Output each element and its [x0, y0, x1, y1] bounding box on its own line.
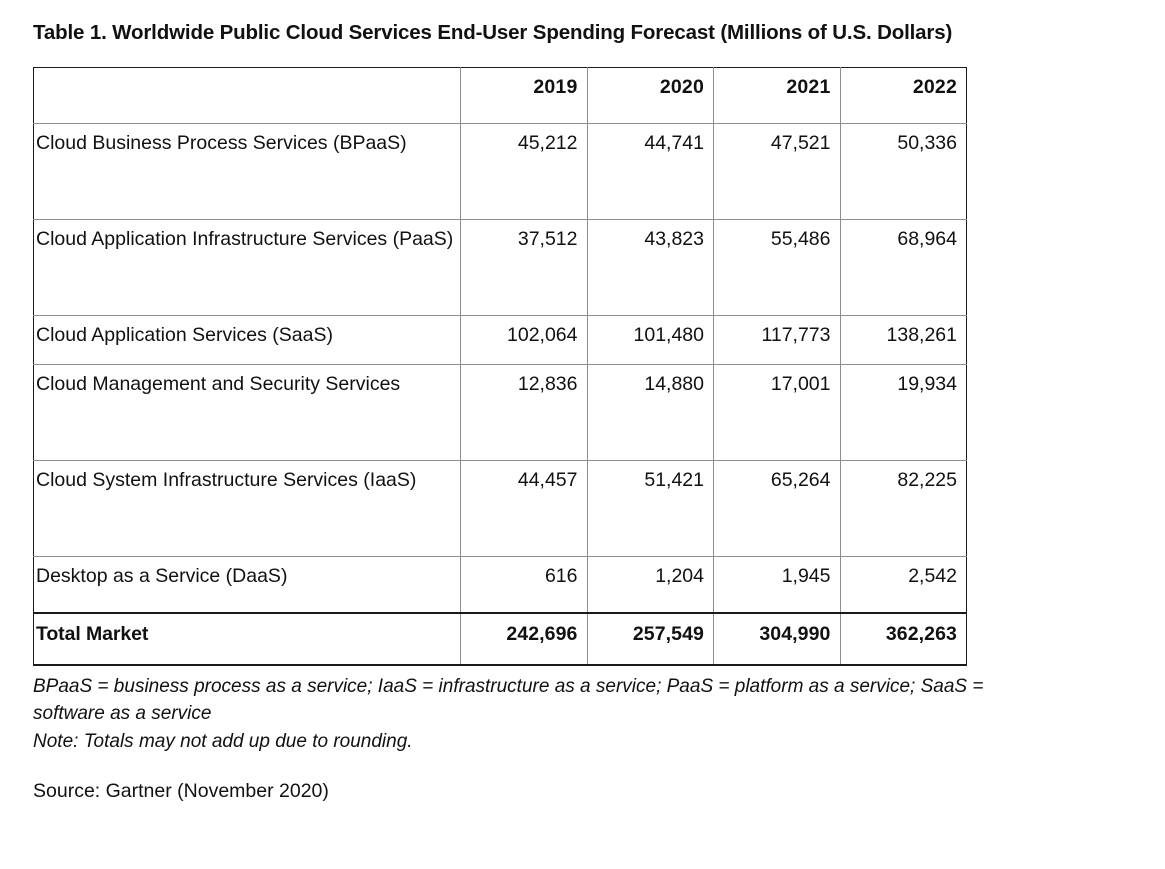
- table-row: Cloud Application Infrastructure Service…: [34, 220, 967, 316]
- cell-daas-2019: 616: [461, 557, 588, 613]
- table-row: Cloud System Infrastructure Services (Ia…: [34, 461, 967, 557]
- cell-bpaas-2019: 45,212: [461, 124, 588, 220]
- footnote-abbreviations: BPaaS = business process as a service; I…: [33, 673, 1013, 728]
- source-attribution: Source: Gartner (November 2020): [33, 778, 1013, 805]
- cell-saas-2022: 138,261: [840, 316, 967, 365]
- row-label-paas: Cloud Application Infrastructure Service…: [34, 220, 461, 316]
- table-row: Cloud Business Process Services (BPaaS) …: [34, 124, 967, 220]
- column-header-2020: 2020: [587, 68, 714, 124]
- cell-management-security-2021: 17,001: [714, 365, 841, 461]
- cell-saas-2021: 117,773: [714, 316, 841, 365]
- cell-management-security-2020: 14,880: [587, 365, 714, 461]
- cell-iaas-2019: 44,457: [461, 461, 588, 557]
- table-footnotes: BPaaS = business process as a service; I…: [33, 673, 1013, 806]
- row-label-management-security: Cloud Management and Security Services: [34, 365, 461, 461]
- document-page: Table 1. Worldwide Public Cloud Services…: [0, 0, 1165, 869]
- row-label-total-market: Total Market: [34, 613, 461, 665]
- cell-paas-2022: 68,964: [840, 220, 967, 316]
- cell-daas-2022: 2,542: [840, 557, 967, 613]
- cell-management-security-2019: 12,836: [461, 365, 588, 461]
- page-title: Table 1. Worldwide Public Cloud Services…: [33, 18, 1123, 47]
- row-label-iaas: Cloud System Infrastructure Services (Ia…: [34, 461, 461, 557]
- table-row: Desktop as a Service (DaaS) 616 1,204 1,…: [34, 557, 967, 613]
- row-label-daas: Desktop as a Service (DaaS): [34, 557, 461, 613]
- cell-total-2021: 304,990: [714, 613, 841, 665]
- cell-daas-2020: 1,204: [587, 557, 714, 613]
- cell-bpaas-2022: 50,336: [840, 124, 967, 220]
- cell-saas-2019: 102,064: [461, 316, 588, 365]
- table-body: Cloud Business Process Services (BPaaS) …: [34, 124, 967, 665]
- cell-saas-2020: 101,480: [587, 316, 714, 365]
- cell-total-2022: 362,263: [840, 613, 967, 665]
- table-total-row: Total Market 242,696 257,549 304,990 362…: [34, 613, 967, 665]
- column-header-2019: 2019: [461, 68, 588, 124]
- row-label-bpaas: Cloud Business Process Services (BPaaS): [34, 124, 461, 220]
- table-row: Cloud Application Services (SaaS) 102,06…: [34, 316, 967, 365]
- cell-paas-2021: 55,486: [714, 220, 841, 316]
- cell-management-security-2022: 19,934: [840, 365, 967, 461]
- cell-total-2020: 257,549: [587, 613, 714, 665]
- table-row: Cloud Management and Security Services 1…: [34, 365, 967, 461]
- cell-iaas-2022: 82,225: [840, 461, 967, 557]
- cell-bpaas-2020: 44,741: [587, 124, 714, 220]
- table-header-row: 2019 2020 2021 2022: [34, 68, 967, 124]
- column-header-corner: [34, 68, 461, 124]
- cell-iaas-2020: 51,421: [587, 461, 714, 557]
- cell-bpaas-2021: 47,521: [714, 124, 841, 220]
- cell-paas-2020: 43,823: [587, 220, 714, 316]
- footnote-rounding-note: Note: Totals may not add up due to round…: [33, 728, 1013, 756]
- forecast-table: 2019 2020 2021 2022 Cloud Business Proce…: [33, 67, 967, 666]
- table-header: 2019 2020 2021 2022: [34, 68, 967, 124]
- row-label-saas: Cloud Application Services (SaaS): [34, 316, 461, 365]
- cell-paas-2019: 37,512: [461, 220, 588, 316]
- column-header-2022: 2022: [840, 68, 967, 124]
- column-header-2021: 2021: [714, 68, 841, 124]
- cell-total-2019: 242,696: [461, 613, 588, 665]
- cell-daas-2021: 1,945: [714, 557, 841, 613]
- cell-iaas-2021: 65,264: [714, 461, 841, 557]
